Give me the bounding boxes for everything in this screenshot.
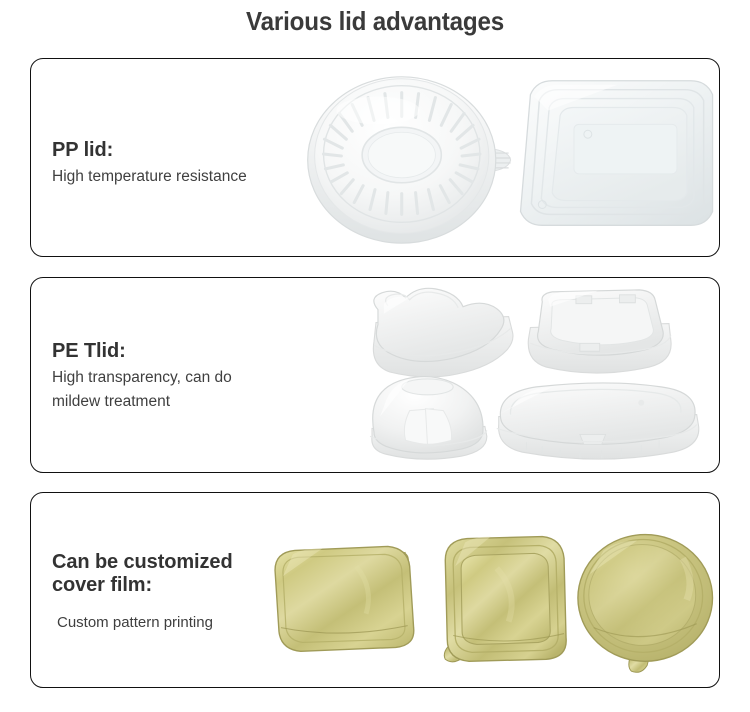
panel-pp-heading: PP lid: bbox=[52, 139, 247, 162]
panel-cover-film: Can be customized cover film: Custom pat… bbox=[30, 492, 720, 688]
product-heart-pe-lid bbox=[373, 288, 513, 377]
page-title: Various lid advantages bbox=[26, 6, 724, 37]
panel-pe-description: High transparency, can do mildew treatme… bbox=[52, 366, 232, 414]
panel-film-heading: Can be customized cover film: bbox=[52, 551, 233, 597]
panel-pe-heading: PE Tlid: bbox=[52, 340, 232, 363]
panel-pp-description: High temperature resistance bbox=[52, 165, 247, 189]
panel-pe-text-block: PE Tlid: High transparency, can do milde… bbox=[52, 340, 232, 414]
product-square-gold-film-lid bbox=[444, 537, 566, 662]
product-round-pp-lid bbox=[308, 77, 511, 243]
panel-pp-lid: PP lid: High temperature resistance bbox=[30, 58, 720, 257]
product-dome-pe-lid bbox=[370, 377, 487, 460]
product-oval-pe-lid bbox=[497, 383, 699, 459]
product-rectangular-gold-film-lid bbox=[275, 546, 414, 651]
panel-film-description: Custom pattern printing bbox=[52, 611, 233, 634]
panel-film-text-block: Can be customized cover film: Custom pat… bbox=[52, 551, 233, 635]
product-round-gold-film-lid bbox=[578, 535, 713, 673]
product-square-pe-lid bbox=[528, 290, 671, 373]
product-rectangular-pp-lid bbox=[521, 81, 713, 226]
panel-pp-text-block: PP lid: High temperature resistance bbox=[52, 139, 247, 189]
panel-pe-lid: PE Tlid: High transparency, can do milde… bbox=[30, 277, 720, 473]
